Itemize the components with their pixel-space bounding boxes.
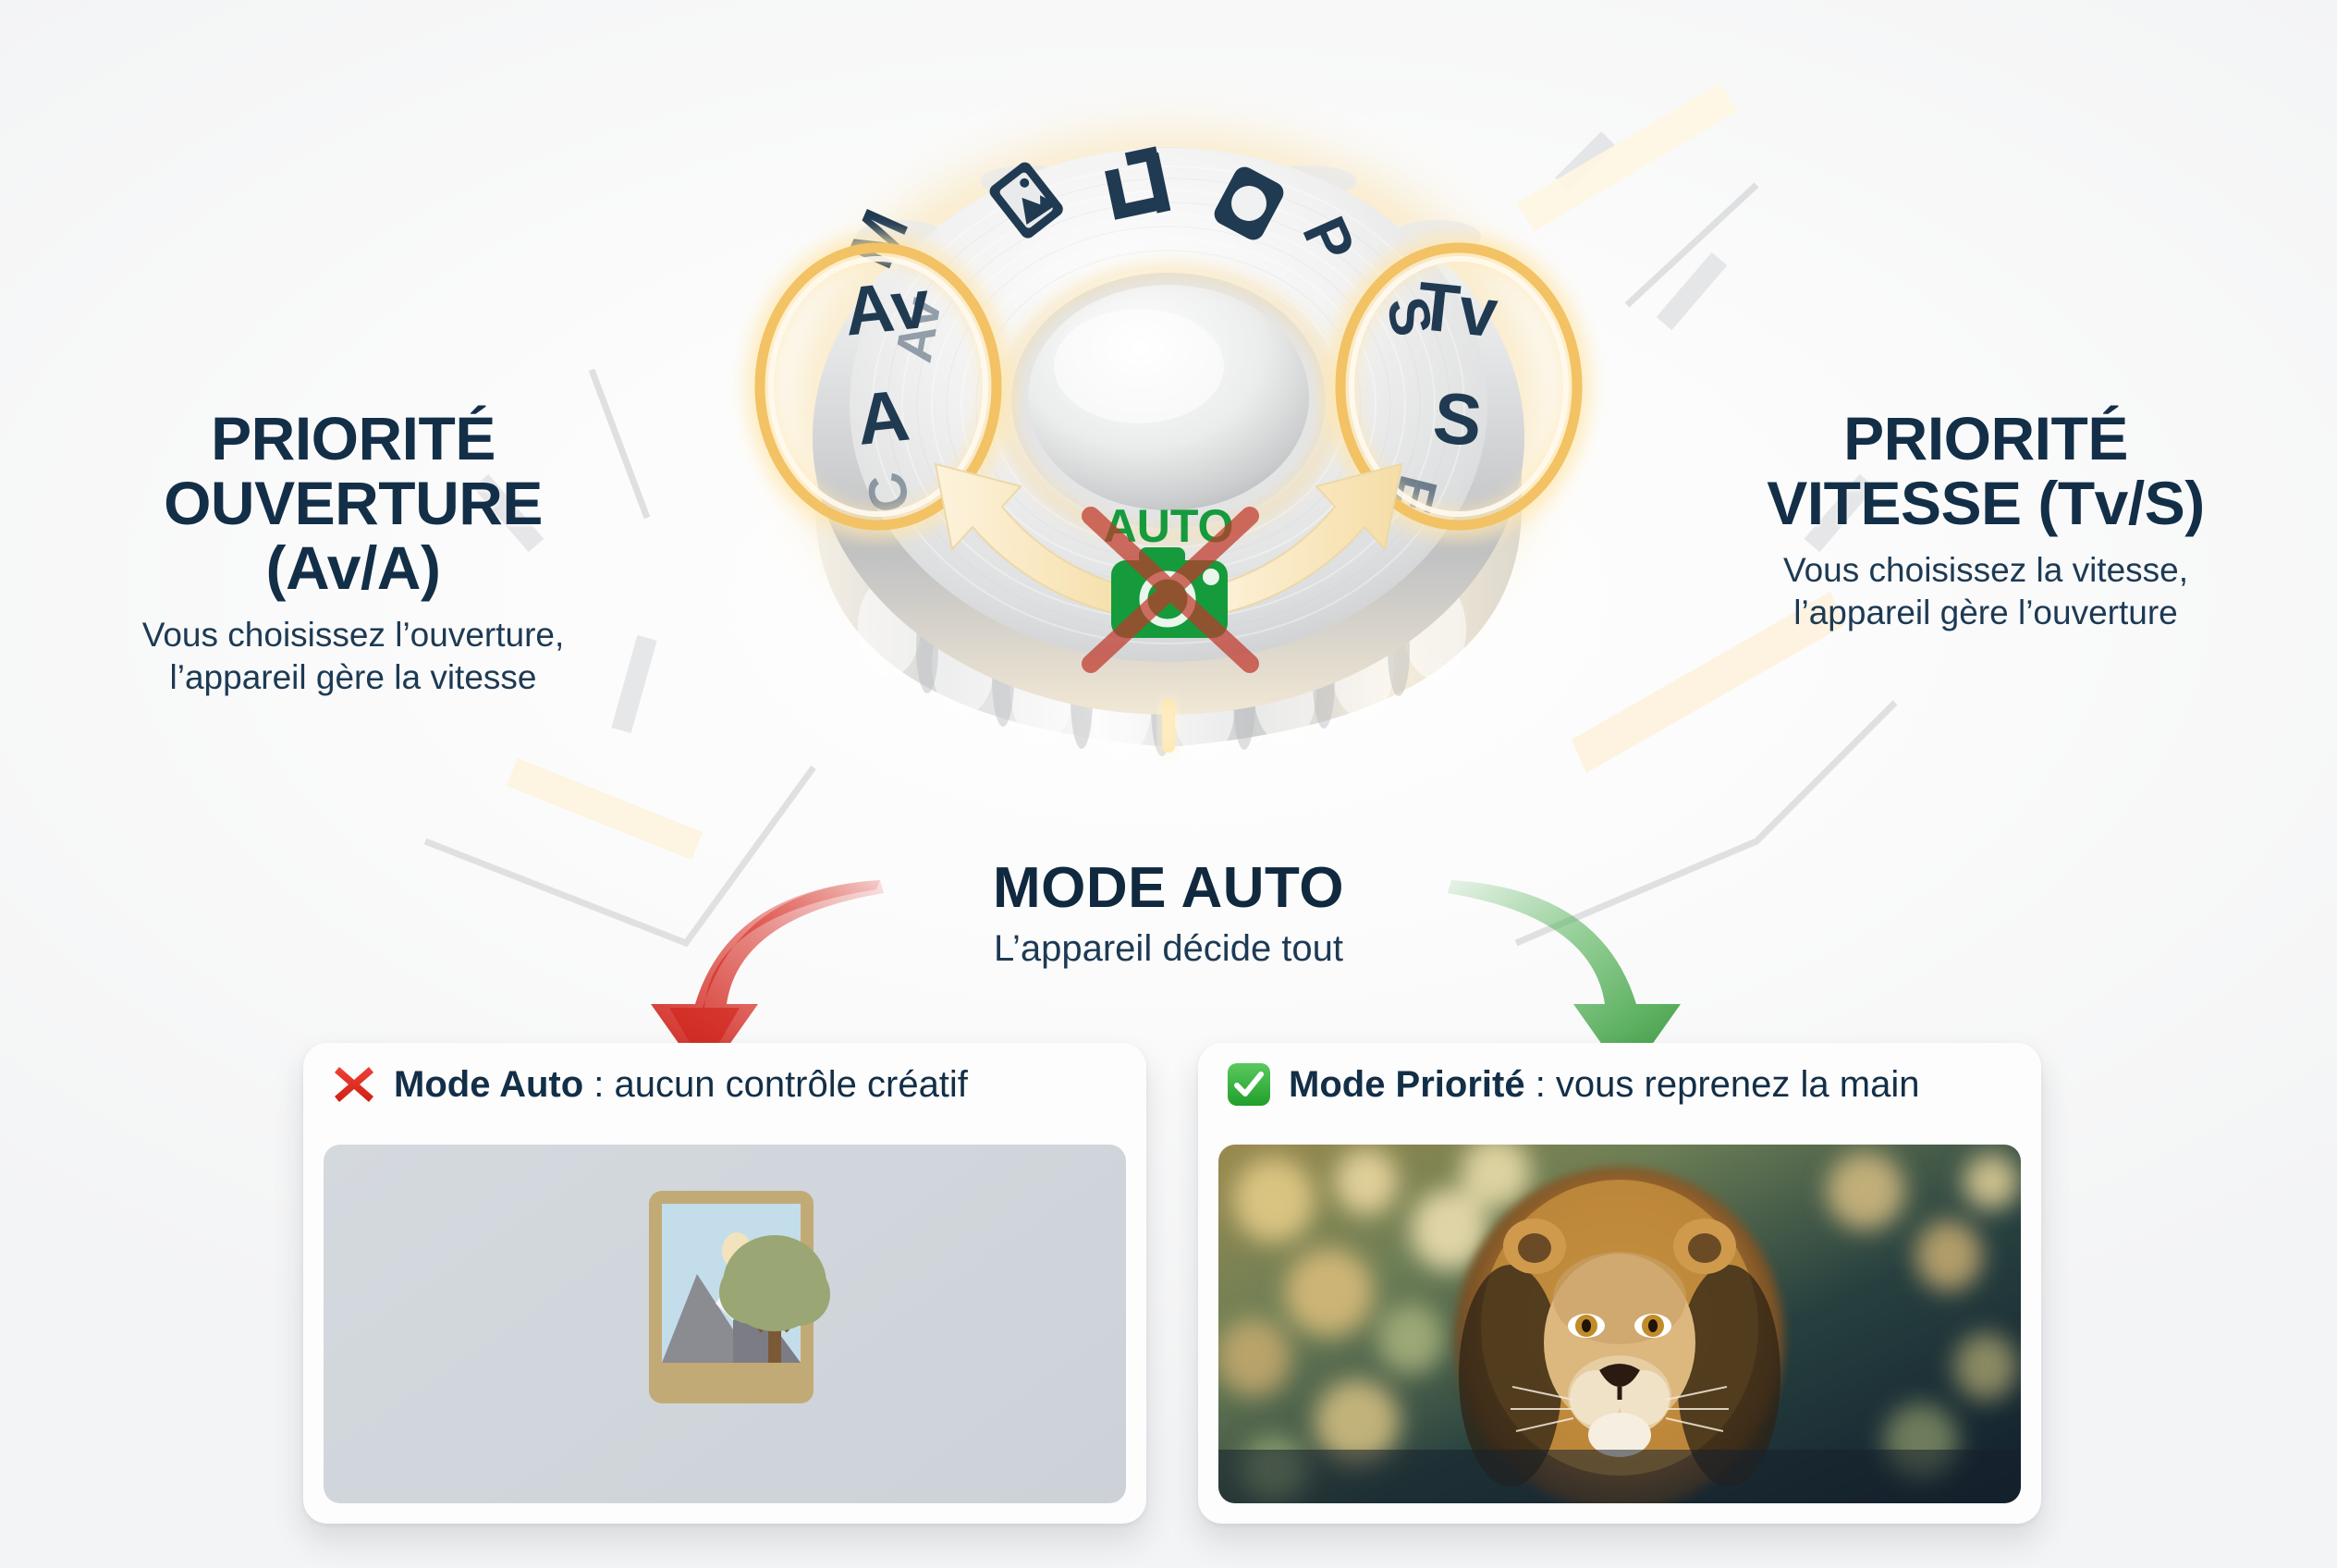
left-title-line2: OUVERTURE [164, 469, 543, 537]
aperture-priority-block: PRIORITÉ OUVERTURE (Av/A) Vous choisisse… [48, 407, 658, 699]
dial-index-glow [1162, 699, 1175, 753]
card-auto-media [324, 1145, 1126, 1503]
card-auto-header: Mode Auto : aucun contrôle créatif [303, 1043, 1146, 1121]
green-check-icon [1226, 1061, 1272, 1108]
infographic-stage: PRIORITÉ OUVERTURE (Av/A) Vous choisisse… [0, 0, 2337, 1568]
right-desc-line2: l’appareil gère l’ouverture [1793, 594, 2177, 631]
left-desc-line1: Vous choisissez l’ouverture, [142, 616, 565, 654]
mode-mark-a: A [853, 374, 913, 459]
right-title-line1: PRIORITÉ [1843, 404, 2128, 472]
card-auto-label-strong: Mode Auto [394, 1064, 583, 1105]
center-title: MODE AUTO [752, 855, 1585, 921]
photo-placeholder-icon [324, 1145, 1126, 1503]
left-title-line1: PRIORITÉ [211, 404, 496, 472]
shutter-priority-block: PRIORITÉ VITESSE (Tv/S) Vous choisissez … [1662, 407, 2309, 634]
left-title-line3: (Av/A) [266, 533, 441, 602]
mode-mark-av: Av [840, 265, 933, 350]
lion-portrait-photo [1218, 1145, 2021, 1503]
card-priority-header: Mode Priorité : vous reprenez la main [1198, 1043, 2041, 1121]
left-desc-line2: l’appareil gère la vitesse [170, 658, 537, 696]
mode-mark-tv: Tv [1413, 267, 1501, 352]
camera-mode-dial[interactable]: M P S Av C E [658, 72, 1680, 802]
mode-mark-s: S [1429, 376, 1486, 462]
right-desc-line1: Vous choisissez la vitesse, [1783, 551, 2188, 589]
right-title-line2: VITESSE (Tv/S) [1767, 469, 2204, 537]
center-subtitle: L’appareil décide tout [752, 928, 1585, 970]
auto-mode-block: MODE AUTO L’appareil décide tout [752, 855, 1585, 970]
dial-hub-specular [1054, 309, 1224, 423]
card-mode-auto[interactable]: Mode Auto : aucun contrôle créatif [303, 1043, 1146, 1524]
card-auto-label-rest: : aucun contrôle créatif [583, 1064, 968, 1105]
card-priority-label-rest: : vous reprenez la main [1525, 1064, 1920, 1105]
card-priority-media [1218, 1145, 2021, 1503]
card-priority-label-strong: Mode Priorité [1289, 1064, 1525, 1105]
red-cross-icon [331, 1061, 377, 1108]
card-mode-priority[interactable]: Mode Priorité : vous reprenez la main [1198, 1043, 2041, 1524]
